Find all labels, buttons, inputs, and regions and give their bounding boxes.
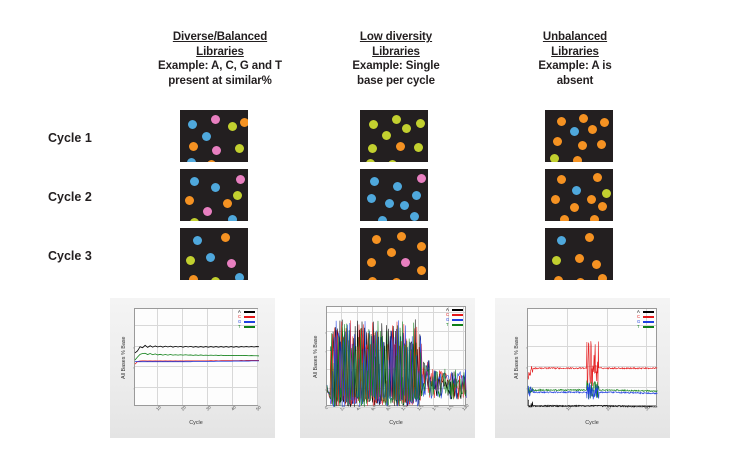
cluster-dot-orange [585, 233, 594, 242]
cluster-dot-orange [578, 141, 587, 150]
legend-entry-T: T [446, 323, 463, 327]
column-example-line2: present at similar% [145, 74, 295, 89]
cluster-dot-orange [367, 258, 376, 267]
legend-swatch [452, 319, 463, 321]
cluster-dot-blue [370, 177, 379, 186]
chart-legend: ACGT [238, 310, 255, 329]
column-title-line1: Unbalanced [510, 30, 640, 45]
cluster-dot-orange [553, 137, 562, 146]
chart-unbalanced: 10020030010203040CycleAll Bases % BaseAC… [495, 298, 670, 438]
cluster-dot-orange [417, 242, 426, 251]
cluster-dot-blue [235, 273, 244, 280]
cluster-dot-green [211, 277, 220, 280]
cluster-dot-orange [185, 196, 194, 205]
legend-swatch [643, 326, 654, 328]
cluster-dot-green [414, 143, 423, 152]
chart-diverse-balanced: 102030405010203040CycleAll Bases % BaseA… [110, 298, 275, 438]
legend-swatch [244, 311, 255, 313]
cluster-dot-green [388, 160, 397, 162]
cluster-dot-orange [557, 117, 566, 126]
legend-swatch [244, 316, 255, 318]
legend-entry-T: T [238, 325, 255, 329]
cluster-dot-orange [575, 254, 584, 263]
cluster-dot-blue [367, 194, 376, 203]
column-example-line1: Example: A is [510, 59, 640, 74]
dot-panel-unbalanced-cycle-3 [545, 228, 613, 280]
cluster-dot-green [552, 256, 561, 265]
cluster-dot-orange [597, 140, 606, 149]
dot-panel-diverse-balanced-cycle-3 [180, 228, 248, 280]
cluster-dot-orange [223, 199, 232, 208]
y-axis-title: All Bases % Base [514, 336, 520, 379]
cluster-dot-orange [598, 202, 607, 211]
legend-label: T [446, 323, 450, 327]
legend-label: T [238, 325, 242, 329]
legend-label: T [637, 325, 641, 329]
series-line [135, 353, 259, 360]
cluster-dot-green [235, 144, 244, 153]
cluster-dot-orange [189, 142, 198, 151]
cluster-dot-blue [557, 236, 566, 245]
cluster-dot-blue [193, 236, 202, 245]
y-axis-title: All Bases % Base [313, 335, 319, 378]
cluster-dot-pink [211, 115, 220, 124]
column-title-line2: Libraries [510, 45, 640, 60]
cluster-dot-blue [206, 253, 215, 262]
cluster-dot-green [416, 119, 425, 128]
cluster-dot-orange [573, 156, 582, 162]
gridline-horizontal [327, 407, 465, 408]
cluster-dot-orange [570, 203, 579, 212]
cluster-dot-blue [570, 127, 579, 136]
cluster-dot-orange [372, 235, 381, 244]
legend-swatch [643, 311, 654, 313]
cluster-dot-blue [211, 183, 220, 192]
cluster-dot-orange [560, 215, 569, 221]
cluster-dot-pink [401, 258, 410, 267]
legend-swatch [643, 321, 654, 323]
cluster-dot-green [228, 122, 237, 131]
cluster-dot-green [550, 154, 559, 162]
cluster-dot-orange [588, 125, 597, 134]
cluster-dot-blue [385, 199, 394, 208]
cluster-dot-orange [587, 195, 596, 204]
cluster-dot-orange [387, 248, 396, 257]
legend-swatch [244, 321, 255, 323]
cluster-dot-green [369, 120, 378, 129]
cluster-dot-blue [188, 120, 197, 129]
column-title-line1: Diverse/Balanced [145, 30, 295, 45]
series-line [528, 341, 657, 392]
cluster-dot-orange [590, 215, 599, 221]
dot-panel-unbalanced-cycle-1 [545, 110, 613, 162]
column-title-line1: Low diversity [330, 30, 462, 45]
cluster-dot-orange [554, 276, 563, 280]
column-example-line2: base per cycle [330, 74, 462, 89]
cluster-dot-green [368, 144, 377, 153]
dot-panel-unbalanced-cycle-2 [545, 169, 613, 221]
legend-entry-T: T [637, 325, 654, 329]
legend-swatch [643, 316, 654, 318]
cluster-dot-blue [378, 216, 387, 221]
x-axis-title: Cycle [326, 420, 466, 426]
cluster-dot-orange [397, 232, 406, 241]
cluster-dot-orange [221, 233, 230, 242]
cluster-dot-green [190, 218, 199, 221]
cluster-dot-blue [400, 201, 409, 210]
legend-swatch [452, 314, 463, 316]
cluster-dot-pink [236, 175, 245, 184]
cluster-dot-blue [187, 158, 196, 162]
cluster-dot-orange [557, 175, 566, 184]
cluster-dot-orange [579, 114, 588, 123]
x-axis-title: Cycle [527, 420, 657, 426]
cluster-dot-green [392, 115, 401, 124]
cluster-dot-blue [412, 191, 421, 200]
cluster-dot-green [186, 256, 195, 265]
legend-swatch [244, 326, 255, 328]
cluster-dot-orange [396, 142, 405, 151]
column-header-low-diversity: Low diversity Libraries Example: Single … [330, 30, 462, 88]
legend-swatch [452, 324, 463, 326]
dot-panel-low-diversity-cycle-1 [360, 110, 428, 162]
cluster-dot-blue [410, 212, 419, 221]
cluster-dot-orange [240, 118, 248, 127]
column-header-diverse-balanced: Diverse/Balanced Libraries Example: A, C… [145, 30, 295, 88]
cluster-dot-green [602, 189, 611, 198]
dot-panel-low-diversity-cycle-2 [360, 169, 428, 221]
x-axis-title: Cycle [134, 420, 258, 426]
series-line [135, 345, 259, 353]
cluster-dot-pink [212, 146, 221, 155]
cluster-dot-green [366, 159, 375, 162]
plot-area [326, 306, 466, 406]
dot-panel-diverse-balanced-cycle-1 [180, 110, 248, 162]
cluster-dot-blue [190, 177, 199, 186]
column-example-line1: Example: Single [330, 59, 462, 74]
cluster-dot-orange [417, 266, 426, 275]
cluster-dot-blue [572, 186, 581, 195]
cluster-dot-green [402, 124, 411, 133]
column-title-line2: Libraries [145, 45, 295, 60]
cluster-dot-pink [417, 174, 426, 183]
cluster-dot-orange [392, 278, 401, 280]
dot-panel-diverse-balanced-cycle-2 [180, 169, 248, 221]
y-axis-title: All Bases % Base [121, 336, 127, 379]
dot-panel-low-diversity-cycle-3 [360, 228, 428, 280]
chart-legend: ACGT [446, 308, 463, 327]
column-header-unbalanced: Unbalanced Libraries Example: A is absen… [510, 30, 640, 88]
cluster-dot-blue [393, 182, 402, 191]
cluster-dot-orange [593, 173, 602, 182]
chart-legend: ACGT [637, 310, 654, 329]
series-line [528, 400, 657, 407]
cluster-dot-green [233, 191, 242, 200]
cluster-dot-blue [202, 132, 211, 141]
cluster-dot-orange [576, 278, 585, 280]
cluster-dot-orange [551, 195, 560, 204]
column-example-line2: absent [510, 74, 640, 89]
cluster-dot-pink [203, 207, 212, 216]
legend-swatch [452, 309, 463, 311]
cluster-dot-orange [189, 275, 198, 280]
cluster-dot-orange [600, 118, 609, 127]
row-label-cycle-3: Cycle 3 [48, 249, 138, 263]
cluster-dot-orange [592, 260, 601, 269]
cluster-dot-blue [228, 215, 237, 221]
cluster-dot-green [382, 131, 391, 140]
chart-low-diversity: 20406080100120140160180020406080100Cycle… [300, 298, 475, 438]
cluster-dot-orange [598, 274, 607, 280]
column-title-line2: Libraries [330, 45, 462, 60]
column-example-line1: Example: A, C, G and T [145, 59, 295, 74]
row-label-cycle-1: Cycle 1 [48, 131, 138, 145]
cluster-dot-orange [207, 160, 216, 162]
cluster-dot-pink [227, 259, 236, 268]
row-label-cycle-2: Cycle 2 [48, 190, 138, 204]
cluster-dot-orange [368, 277, 377, 280]
